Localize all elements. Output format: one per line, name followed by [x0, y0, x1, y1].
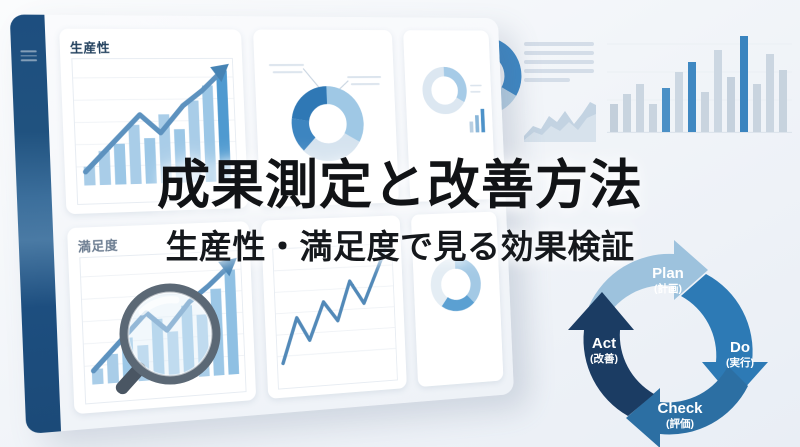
pdca-label-do: Do (実行): [726, 339, 754, 369]
pdca-label-act: Act (改善): [590, 335, 618, 365]
bg-bar-chart: [607, 32, 792, 144]
svg-text:Act: Act: [592, 335, 616, 352]
svg-text:(計画): (計画): [654, 282, 682, 295]
pdca-label-plan: Plan (計画): [652, 265, 684, 295]
page-title: 成果測定と改善方法: [0, 158, 800, 214]
svg-text:Do: Do: [730, 339, 750, 356]
hamburger-menu-icon[interactable]: [20, 50, 37, 64]
svg-text:(評価): (評価): [666, 417, 694, 430]
pdca-cycle-diagram: Plan (計画) Do (実行) Check (評価) Act (改善): [556, 244, 800, 444]
svg-text:(実行): (実行): [726, 356, 754, 369]
svg-text:Plan: Plan: [652, 265, 684, 282]
card-title: 生産性: [69, 38, 232, 57]
svg-text:Check: Check: [657, 400, 703, 417]
hero-banner: 生産性: [0, 0, 800, 447]
svg-text:(改善): (改善): [590, 352, 618, 365]
bar-trend-chart-2: [79, 250, 246, 404]
